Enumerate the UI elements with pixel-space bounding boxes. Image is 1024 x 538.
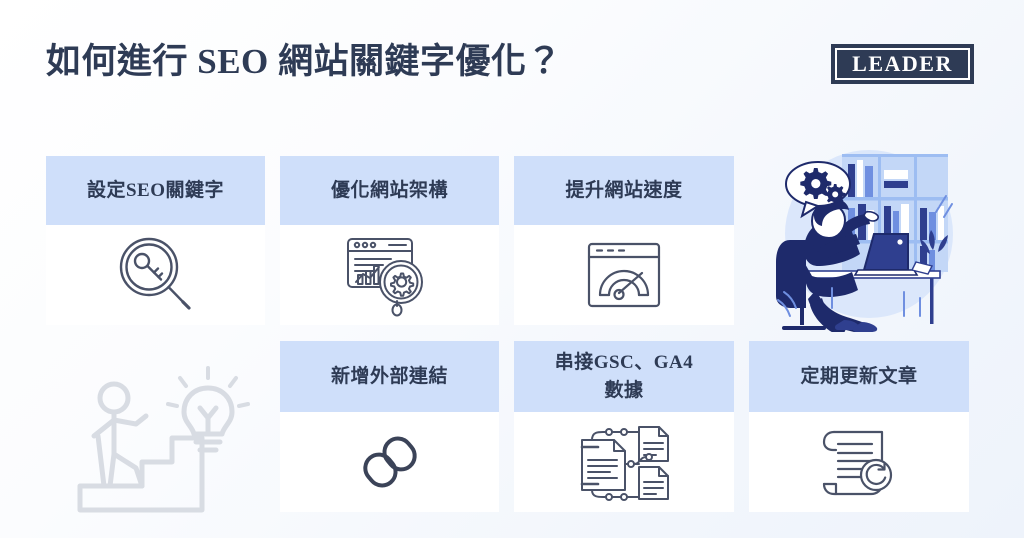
magnifier-key-icon: [113, 234, 199, 316]
browser-speedometer-icon: [586, 241, 662, 309]
card-header: 定期更新文章: [749, 341, 969, 412]
card-header: 提升網站速度: [514, 156, 734, 225]
stairs-climbing-lightbulb-icon: [72, 350, 262, 522]
card-title: 串接GSC、GA4 數據: [545, 349, 704, 404]
brand-logo: LEADER: [831, 44, 974, 84]
card-title: 提升網站速度: [555, 177, 692, 205]
card-set-seo-keywords[interactable]: 設定SEO關鍵字: [46, 156, 265, 325]
card-title: 定期更新文章: [790, 363, 927, 391]
card-connect-gsc-ga4-data[interactable]: 串接GSC、GA4 數據: [514, 341, 734, 512]
slide-canvas: 如何進行 SEO 網站關鍵字優化？ LEADER 設定SEO關鍵字: [0, 0, 1024, 538]
card-icon-area: [514, 225, 734, 325]
card-title: 設定SEO關鍵字: [77, 177, 234, 205]
browser-gear-magnifier-icon: [345, 233, 435, 317]
card-header: 串接GSC、GA4 數據: [514, 341, 734, 412]
page-title: 如何進行 SEO 網站關鍵字優化？: [46, 41, 562, 83]
card-icon-area: [514, 412, 734, 512]
card-improve-site-speed[interactable]: 提升網站速度: [514, 156, 734, 325]
logo-text: LEADER: [852, 53, 953, 76]
card-header: 優化網站架構: [280, 156, 499, 225]
card-optimize-site-structure[interactable]: 優化網站架構: [280, 156, 499, 325]
chain-link-icon: [353, 426, 427, 498]
card-update-articles-regularly[interactable]: 定期更新文章: [749, 341, 969, 512]
card-icon-area: [280, 225, 499, 325]
card-add-external-links[interactable]: 新增外部連結: [280, 341, 499, 512]
card-title: 優化網站架構: [321, 177, 458, 205]
card-icon-area: [46, 225, 265, 325]
document-flow-icon: [576, 423, 672, 501]
scroll-refresh-icon: [816, 422, 902, 502]
person-at-desk-with-laptop-illustration: [770, 142, 968, 332]
card-icon-area: [280, 412, 499, 512]
card-title: 新增外部連結: [321, 363, 458, 391]
logo-border: LEADER: [835, 48, 970, 80]
card-icon-area: [749, 412, 969, 512]
card-header: 新增外部連結: [280, 341, 499, 412]
card-header: 設定SEO關鍵字: [46, 156, 265, 225]
